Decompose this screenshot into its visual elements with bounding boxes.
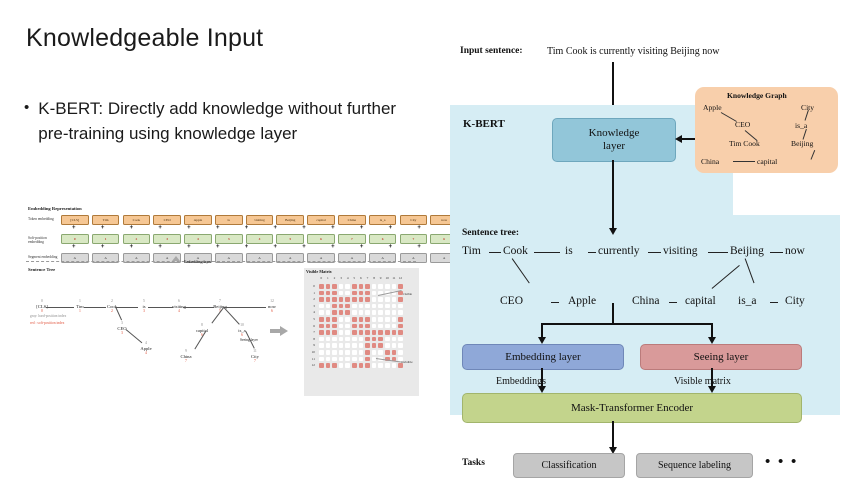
vm-dot-visible [332,297,337,302]
vm-cell-12-4 [344,362,351,369]
vm-dot-invisible [392,317,397,322]
vm-cell-7-7 [364,329,371,336]
tree-split-stem [612,303,614,323]
soft-position-cell-6: 4 [246,234,274,244]
branch-dash-1 [669,302,677,303]
vm-dot-invisible [378,304,383,309]
vm-dot-invisible [326,343,331,348]
vm-dot-invisible [319,304,324,309]
vm-dot-invisible [352,357,357,362]
vm-cell-2-2 [331,296,338,303]
plus-symbol-0-12: + [406,225,432,231]
vm-dot-visible [339,310,344,315]
vm-cell-12-11 [391,362,398,369]
vm-dot-invisible [378,324,383,329]
vm-cell-5-11 [391,316,398,323]
vm-dot-invisible [345,337,350,342]
task-classification-box[interactable]: Classification [513,453,625,478]
hard-index-3: 3 [121,321,123,325]
vm-cell-0-8 [371,283,378,290]
vm-col-0: 0 [318,276,325,280]
tree-edge-0 [46,307,74,308]
vm-dot-visible [385,330,390,335]
vm-dot-visible [326,317,331,322]
vm-dot-invisible [398,304,403,309]
vm-cell-10-11 [391,349,398,356]
plus-symbol-0-11: + [378,225,404,231]
vm-dot-visible [378,343,383,348]
vm-cell-11-8 [371,356,378,363]
token-cell-5: is [215,215,243,225]
vm-cell-4-11 [391,309,398,316]
vm-cell-11-6 [358,356,365,363]
vm-dot-invisible [378,297,383,302]
arrowhead-to-embedding-layer [538,337,546,344]
vm-cell-2-0 [318,296,325,303]
vm-dot-invisible [398,343,403,348]
soft-position-cell-11: 7 [400,234,428,244]
vm-cell-9-12 [397,342,404,349]
plus-row-1: +++++++++++++ [61,225,432,231]
tree-dash-4 [708,252,728,253]
tree-dash-2 [588,252,596,253]
vm-dot-invisible [385,297,390,302]
soft-index-3: 3 [121,331,123,335]
vm-dot-invisible [378,317,383,322]
vm-cell-7-2 [331,329,338,336]
vm-dot-invisible [326,310,331,315]
vm-cell-5-1 [325,316,332,323]
vm-dot-invisible [385,310,390,315]
soft-index-0: 0 [41,309,43,313]
hard-index-2: 2 [111,299,113,303]
tasks-label: Tasks [462,458,485,468]
tree-word-is: is [565,245,573,257]
tree-split-bar [541,323,713,325]
plus-symbol-1-9: + [320,244,346,250]
seeing-layer-caption: Seeing layer [240,338,258,342]
vm-cell-9-4 [344,342,351,349]
vm-cell-7-1 [325,329,332,336]
vm-cell-4-2 [331,309,338,316]
visible-matrix-row-headers: 0123456789101112 [307,283,315,369]
vm-cell-1-1 [325,290,332,297]
hard-index-7: 7 [219,299,221,303]
vm-cell-12-2 [331,362,338,369]
vm-dot-visible [319,284,324,289]
plus-symbol-1-4: + [176,244,202,250]
vm-dot-visible [319,324,324,329]
vm-dot-invisible [392,337,397,342]
vm-cell-10-3 [338,349,345,356]
knowledge-graph-title: Knowledge Graph [727,91,787,100]
vm-cell-8-6 [358,336,365,343]
vm-dot-visible [352,284,357,289]
vm-row-0: 0 [307,283,315,290]
vm-cell-0-0 [318,283,325,290]
task-ellipsis: • • • [765,454,798,471]
figure-divider [26,261,416,262]
vm-dot-invisible [372,317,377,322]
tree-branch-city: City [785,295,805,307]
vm-dot-visible [378,337,383,342]
vm-cell-3-3 [338,303,345,310]
seeing-layer-box[interactable]: Seeing layer [640,344,802,370]
kbert-label: K-BERT [463,118,505,130]
tree-word-cook: Cook [503,245,528,257]
vm-dot-visible [326,363,331,368]
vm-dot-invisible [392,284,397,289]
token-embedding-row: [CLS]TimCookCEOAppleisvisitingBeijingcap… [61,215,458,225]
vm-cell-8-5 [351,336,358,343]
tree-word-visiting: visiting [663,245,698,257]
vm-cell-2-5 [351,296,358,303]
arrow-knowledge-to-tree [612,160,614,228]
sentence-tree-title: Sentence Tree [28,267,55,272]
visible-matrix-annotation-invisible: invisible [401,360,413,364]
vm-cell-3-6 [358,303,365,310]
kg-edge-apple-ceo [721,112,737,122]
vm-dot-visible [365,363,370,368]
vm-dot-visible [332,324,337,329]
vm-cell-11-3 [338,356,345,363]
visible-matrix-grid [318,283,404,369]
vm-cell-2-11 [391,296,398,303]
vm-dot-invisible [345,363,350,368]
vm-dot-visible [365,291,370,296]
vm-dot-invisible [385,363,390,368]
tree-edge-10 [224,307,240,324]
vm-row-2: 2 [307,296,315,303]
plus-symbol-1-2: + [119,244,145,250]
vm-dot-visible [332,284,337,289]
vm-cell-4-5 [351,309,358,316]
vm-cell-6-2 [331,323,338,330]
vm-dot-visible [332,330,337,335]
vm-cell-10-4 [344,349,351,356]
arrow-input-to-knowledge [612,62,614,110]
vm-cell-4-3 [338,309,345,316]
vm-dot-invisible [385,317,390,322]
vm-dot-visible [392,330,397,335]
plus-symbol-0-1: + [90,225,116,231]
vm-cell-10-2 [331,349,338,356]
vm-dot-invisible [378,310,383,315]
vm-cell-4-7 [364,309,371,316]
vm-cell-7-6 [358,329,365,336]
vm-dot-visible [359,330,364,335]
plus-symbol-1-5: + [205,244,231,250]
vm-dot-visible [319,317,324,322]
vm-cell-2-9 [377,296,384,303]
vm-dot-visible [378,330,383,335]
vm-dot-invisible [385,337,390,342]
tree-dash-5 [770,252,783,253]
vm-dot-visible [326,291,331,296]
vm-dot-visible [332,363,337,368]
hard-index-11: 11 [253,349,257,353]
vm-cell-8-0 [318,336,325,343]
vm-dot-visible [359,284,364,289]
token-cell-6: visiting [246,215,274,225]
vm-dot-visible [372,343,377,348]
knowledge-layer-box[interactable]: Knowledge layer [552,118,676,162]
vm-cell-11-0 [318,356,325,363]
vm-row-3: 3 [307,303,315,310]
vm-dot-invisible [392,343,397,348]
vm-col-12: 12 [397,276,404,280]
vm-cell-9-2 [331,342,338,349]
vm-cell-5-9 [377,316,384,323]
plus-symbol-0-2: + [119,225,145,231]
vm-cell-3-0 [318,303,325,310]
vm-dot-invisible [359,357,364,362]
vm-col-5: 5 [351,276,358,280]
vm-dot-visible [365,324,370,329]
hard-index-12: 12 [270,299,274,303]
tree-edge-8 [212,307,224,323]
vm-cell-12-1 [325,362,332,369]
vm-cell-9-11 [391,342,398,349]
vm-dot-invisible [345,291,350,296]
vm-dot-invisible [345,330,350,335]
vm-dot-invisible [392,304,397,309]
vm-cell-12-5 [351,362,358,369]
vm-cell-1-2 [331,290,338,297]
plus-symbol-1-8: + [291,244,317,250]
token-cell-3: CEO [153,215,181,225]
vm-cell-3-10 [384,303,391,310]
token-cell-10: is_a [369,215,397,225]
hard-index-8: 8 [201,323,203,327]
arrowhead-kg-to-knowledge [675,135,682,143]
vm-cell-5-5 [351,316,358,323]
vm-dot-visible [339,304,344,309]
kg-node-ceo: CEO [735,120,750,129]
vm-cell-7-12 [397,329,404,336]
vm-dot-invisible [339,343,344,348]
soft-position-cell-2: 2 [123,234,151,244]
vm-col-4: 4 [344,276,351,280]
vm-dot-invisible [352,343,357,348]
vm-dot-visible [365,350,370,355]
sentence-tree-label: Sentence tree: [462,228,519,238]
bullet-text: K-BERT: Directly add knowledge without f… [38,96,408,146]
vm-dot-visible [398,284,403,289]
vm-dot-invisible [326,304,331,309]
vm-cell-7-8 [371,329,378,336]
vm-cell-0-10 [384,283,391,290]
tree-dash-1 [534,252,560,253]
vm-dot-invisible [345,343,350,348]
hard-index-0: 0 [41,299,43,303]
tree-branch-apple: Apple [568,295,596,307]
vm-col-3: 3 [338,276,345,280]
vm-cell-8-2 [331,336,338,343]
vm-dot-visible [359,363,364,368]
row-label-segment: Segment embedding [28,255,60,259]
vm-dot-visible [339,297,344,302]
vm-cell-5-6 [358,316,365,323]
vm-cell-8-8 [371,336,378,343]
vm-cell-10-10 [384,349,391,356]
vm-cell-9-5 [351,342,358,349]
vm-col-7: 7 [364,276,371,280]
vm-cell-3-5 [351,303,358,310]
vm-dot-invisible [345,350,350,355]
vm-dot-visible [326,297,331,302]
vm-cell-10-9 [377,349,384,356]
bullet-list: • K-BERT: Directly add knowledge without… [24,96,424,146]
soft-index-5: 3 [143,309,145,313]
vm-row-5: 5 [307,316,315,323]
vm-dot-invisible [319,337,324,342]
vm-dot-visible [365,297,370,302]
vm-cell-9-0 [318,342,325,349]
visible-matrix-title: Visible Matrix [306,269,332,274]
vm-cell-7-5 [351,329,358,336]
hard-index-4: 4 [145,341,147,345]
vm-cell-0-3 [338,283,345,290]
arrowhead-embedding-to-encoder [538,386,546,393]
vm-cell-1-3 [338,290,345,297]
token-cell-9: China [338,215,366,225]
vm-cell-10-12 [397,349,404,356]
tree-branch-capital: capital [685,295,716,307]
vm-dot-invisible [326,350,331,355]
plus-symbol-0-7: + [262,225,288,231]
vm-cell-0-5 [351,283,358,290]
vm-cell-12-0 [318,362,325,369]
plus-symbol-0-3: + [147,225,173,231]
vm-dot-invisible [378,363,383,368]
vm-row-4: 4 [307,309,315,316]
vm-dot-visible [326,284,331,289]
vm-dot-visible [352,317,357,322]
vm-cell-1-4 [344,290,351,297]
embedding-layer-box[interactable]: Embedding layer [462,344,624,370]
vm-dot-invisible [339,324,344,329]
vm-dot-invisible [339,284,344,289]
vm-dot-visible [319,363,324,368]
vm-row-1: 1 [307,290,315,297]
vm-cell-8-11 [391,336,398,343]
vm-cell-6-12 [397,323,404,330]
task-sequence-labeling-box[interactable]: Sequence labeling [636,453,753,478]
token-cell-4: Apple [184,215,212,225]
vm-dot-visible [319,330,324,335]
vm-dot-visible [385,350,390,355]
tree-edge-3 [148,307,173,308]
vm-dot-invisible [378,350,383,355]
vm-dot-invisible [392,363,397,368]
arrowhead-seeing-to-encoder [708,386,716,393]
vm-dot-invisible [339,357,344,362]
tree-edge-4 [183,307,214,308]
vm-dot-visible [398,317,403,322]
vm-cell-0-7 [364,283,371,290]
vm-cell-0-2 [331,283,338,290]
arrowhead-to-seeing-layer [708,337,716,344]
vm-cell-12-6 [358,362,365,369]
vm-dot-invisible [372,297,377,302]
soft-position-cell-7: 5 [276,234,304,244]
vm-dot-invisible [359,304,364,309]
tree-edge-2 [116,307,138,308]
vm-dot-invisible [319,350,324,355]
tree-edge-6 [116,307,122,320]
vm-cell-11-1 [325,356,332,363]
vm-cell-5-10 [384,316,391,323]
soft-index-2: 2 [111,309,113,313]
soft-position-cell-5: 3 [215,234,243,244]
arrowhead-knowledge-to-tree [609,228,617,235]
embedding-representation-title: Embedding Representation [28,206,82,211]
vm-dot-invisible [392,324,397,329]
plus-symbol-0-0: + [61,225,87,231]
vm-dot-invisible [332,350,337,355]
vm-cell-6-10 [384,323,391,330]
soft-index-4: 4 [145,351,147,355]
vm-cell-10-5 [351,349,358,356]
vm-cell-5-8 [371,316,378,323]
plus-symbol-1-1: + [90,244,116,250]
kbert-architecture-diagram: Input sentence: Tim Cook is currently vi… [440,30,843,480]
embedded-figure: Embedding Representation Token embedding… [22,204,422,404]
vm-cell-5-3 [338,316,345,323]
vm-cell-3-2 [331,303,338,310]
vm-dot-visible [332,291,337,296]
vm-dot-invisible [345,357,350,362]
vm-cell-7-11 [391,329,398,336]
embedding-layer-arrow-icon [172,256,180,261]
visible-matrix-figure: Visible Matrix 0123456789101112 01234567… [304,268,419,396]
vm-cell-6-0 [318,323,325,330]
vm-cell-2-8 [371,296,378,303]
vm-dot-invisible [332,343,337,348]
vm-cell-2-3 [338,296,345,303]
vm-cell-3-4 [344,303,351,310]
vm-cell-4-4 [344,309,351,316]
vm-cell-4-1 [325,309,332,316]
vm-dot-visible [345,310,350,315]
vm-cell-1-8 [371,290,378,297]
plus-symbol-0-9: + [320,225,346,231]
vm-cell-8-10 [384,336,391,343]
vm-dot-visible [352,330,357,335]
sentence-tree-figure: [CLS]00Tim11Cook22CEO33Apple44is53visiti… [24,274,294,394]
vm-dot-invisible [385,284,390,289]
branch-dash-2 [770,302,778,303]
kg-edge-china-capital [733,161,755,162]
vm-row-8: 8 [307,336,315,343]
vm-dot-visible [352,297,357,302]
plus-row-2: +++++++++++++ [61,244,432,250]
vm-cell-3-9 [377,303,384,310]
vm-dot-visible [345,304,350,309]
vm-cell-12-8 [371,362,378,369]
vm-cell-2-6 [358,296,365,303]
soft-position-cell-8: 6 [307,234,335,244]
vm-dot-visible [365,343,370,348]
vm-dot-visible [352,291,357,296]
mask-transformer-encoder-box[interactable]: Mask-Transformer Encoder [462,393,802,423]
vm-cell-9-8 [371,342,378,349]
vm-cell-6-5 [351,323,358,330]
vm-cell-0-4 [344,283,351,290]
vm-cell-6-7 [364,323,371,330]
soft-position-cell-1: 1 [92,234,120,244]
